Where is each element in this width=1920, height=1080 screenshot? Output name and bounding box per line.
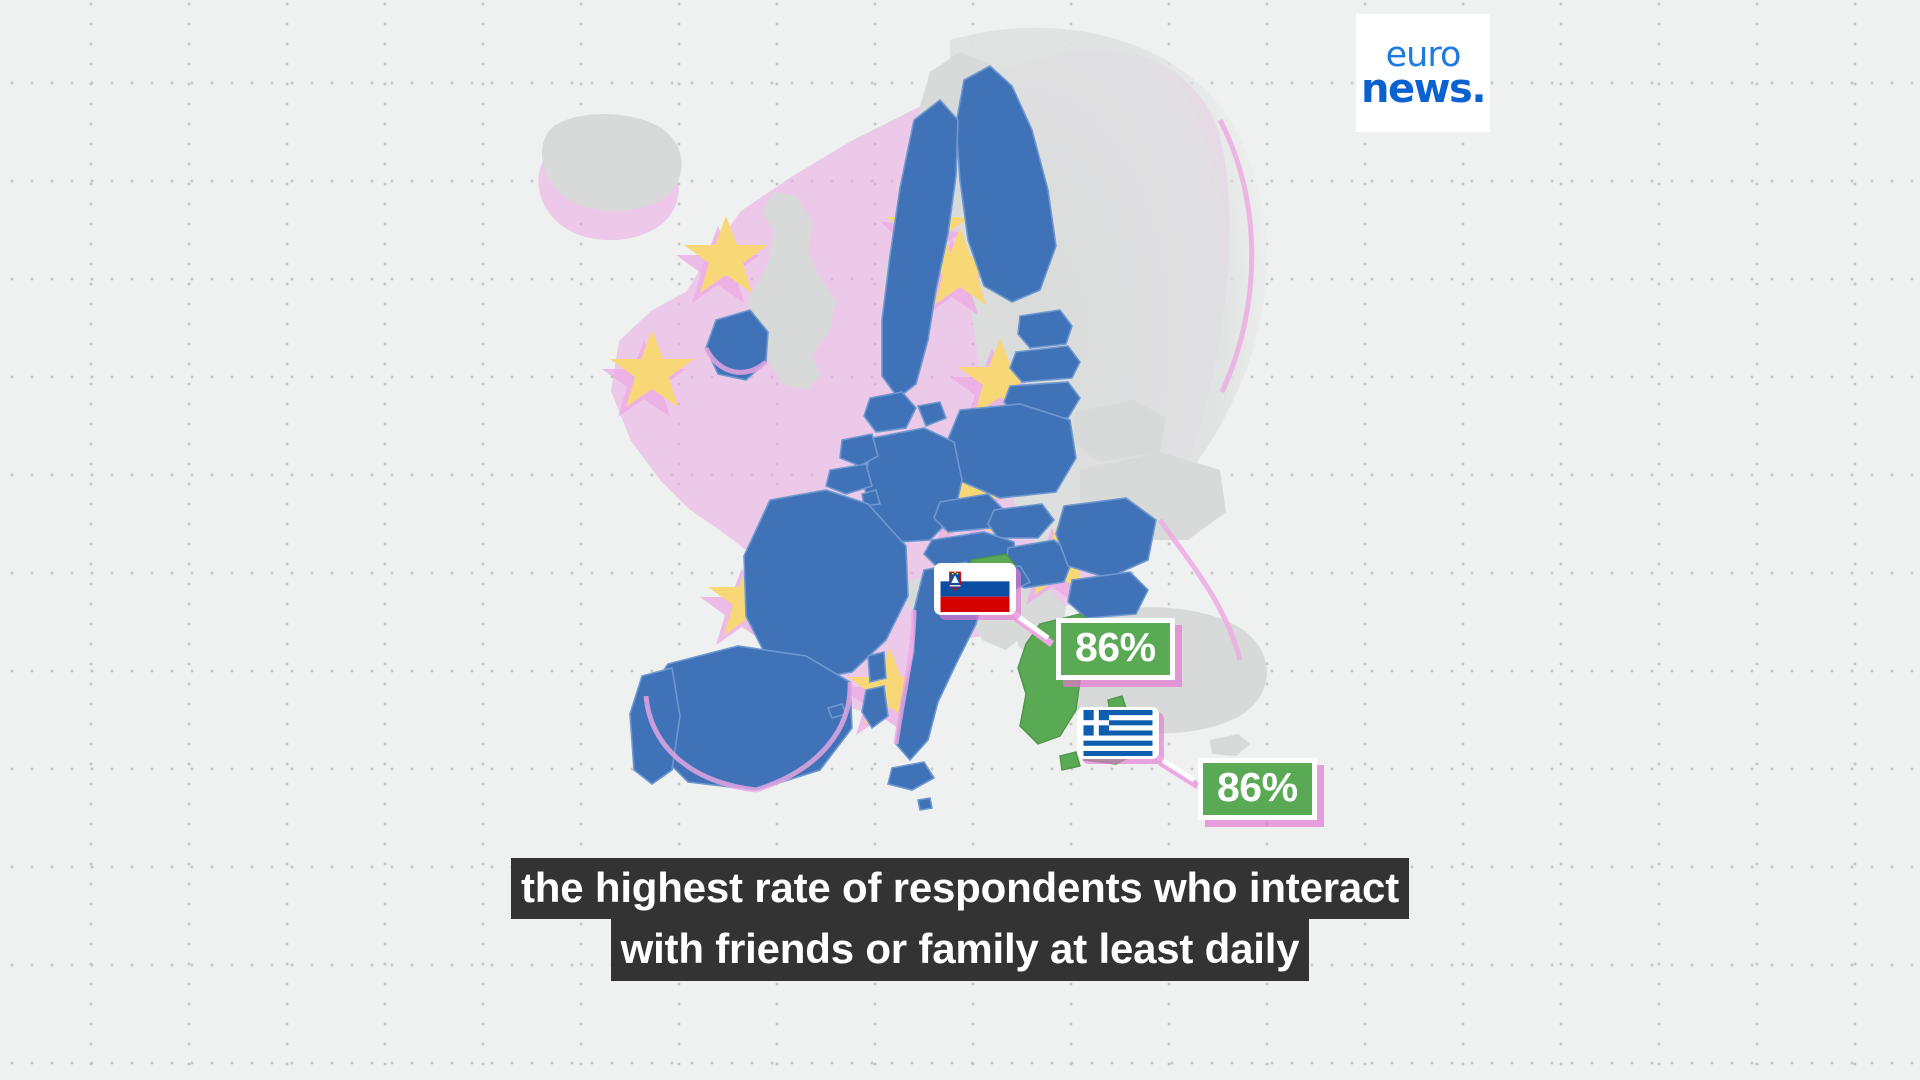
greece-flag-icon xyxy=(1077,707,1159,759)
greece-connector-line xyxy=(0,0,1920,1080)
greece-percentage-value: 86% xyxy=(1217,764,1298,810)
video-frame: euro news. 86 xyxy=(0,0,1920,1080)
greece-percentage-badge: 86% xyxy=(1198,758,1317,820)
callout-greece: 86% xyxy=(0,0,1920,1080)
